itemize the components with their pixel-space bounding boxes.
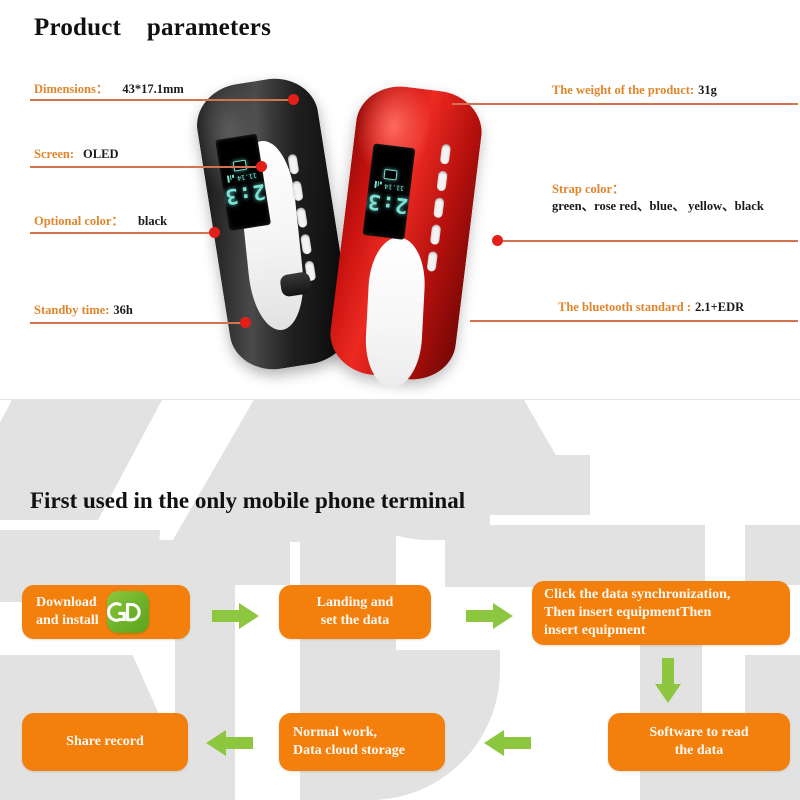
leader-dot-strap-color <box>492 235 503 246</box>
product-infographic-page: Product parameters 12:39 11.14 <box>0 0 800 800</box>
black-band-steps: 11.14 <box>237 171 257 180</box>
flow-step-download-and-install[interactable]: Download and install <box>22 585 190 639</box>
label-screen-key: Screen: <box>34 147 74 161</box>
label-dimensions-key: Dimensions： <box>34 82 108 96</box>
leader-line-dimensions <box>30 99 294 101</box>
label-dimensions-value: 43*17.1mm <box>122 82 183 96</box>
leader-line-weight <box>445 103 798 105</box>
leader-dot-dimensions <box>288 94 299 105</box>
label-optional-color-value: black <box>138 214 167 228</box>
product-parameters-section: Product parameters 12:39 11.14 <box>0 0 800 400</box>
flow-step-landing-and-set-the-data[interactable]: Landing and set the data <box>279 585 431 639</box>
red-band-steps: 11.14 <box>384 182 404 191</box>
label-weight: The weight of the product: 31g <box>552 81 717 99</box>
leader-line-screen <box>30 166 262 168</box>
flow-step-click-the-data-synchronization-label: Click the data synchronization, Then ins… <box>544 586 730 640</box>
label-standby-time: Standby time: 36h <box>34 301 133 319</box>
page-title: Product parameters <box>34 14 271 42</box>
signal-bars-icon <box>375 181 382 189</box>
leader-line-standby-time <box>30 322 246 324</box>
label-screen: Screen: OLED <box>34 145 118 163</box>
flow-section-title: First used in the only mobile phone term… <box>30 488 465 514</box>
flow-arrow-down-1 <box>655 658 681 704</box>
leader-dot-standby-time <box>240 317 251 328</box>
flow-arrow-right-2 <box>466 603 514 629</box>
leader-line-optional-color <box>30 232 215 234</box>
label-strap-color-value: green、rose red、blue、 yellow、black <box>552 198 788 215</box>
flow-step-software-to-read-the-data[interactable]: Software to read the data <box>608 713 790 771</box>
label-optional-color: Optional color： black <box>34 210 167 230</box>
flow-step-landing-and-set-the-data-label: Landing and set the data <box>317 594 394 630</box>
label-strap-color: Strap color： green、rose red、blue、 yellow… <box>552 181 788 215</box>
leader-dot-screen <box>256 161 267 172</box>
label-dimensions: Dimensions： 43*17.1mm <box>34 78 184 98</box>
leader-dot-weight <box>441 98 452 109</box>
flow-step-software-to-read-the-data-label: Software to read the data <box>649 724 748 760</box>
label-standby-time-value: 36h <box>113 303 132 317</box>
flow-step-normal-work-data-cloud-storage[interactable]: Normal work, Data cloud storage <box>279 713 445 771</box>
label-bluetooth-standard-value: 2.1+EDR <box>695 300 744 314</box>
flow-step-share-record[interactable]: Share record <box>22 713 188 771</box>
flow-step-normal-work-data-cloud-storage-label: Normal work, Data cloud storage <box>293 724 405 760</box>
label-bluetooth-standard: The bluetooth standard : 2.1+EDR <box>558 298 744 316</box>
flow-step-download-and-install-label: Download and install <box>36 594 99 630</box>
label-screen-value: OLED <box>83 147 118 161</box>
label-weight-value: 31g <box>698 83 717 97</box>
flow-step-click-the-data-synchronization[interactable]: Click the data synchronization, Then ins… <box>532 581 790 645</box>
leader-line-strap-color <box>496 240 798 242</box>
label-bluetooth-standard-key: The bluetooth standard : <box>558 300 691 314</box>
label-weight-key: The weight of the product: <box>552 83 694 97</box>
flow-arrow-right-1 <box>212 603 260 629</box>
leader-line-bluetooth-standard <box>470 320 798 322</box>
battery-icon <box>384 169 398 181</box>
label-strap-color-key: Strap color： <box>552 181 788 198</box>
product-photo: 12:39 11.14 <box>195 70 555 380</box>
flow-arrow-left-1 <box>483 730 531 756</box>
signal-bars-icon <box>227 175 235 183</box>
usage-flow-section: First used in the only mobile phone term… <box>0 400 800 800</box>
flow-step-share-record-label: Share record <box>66 733 144 751</box>
red-fitness-band: 12:39 11.14 <box>326 81 486 384</box>
label-optional-color-key: Optional color： <box>34 214 124 228</box>
flow-arrow-left-2 <box>205 730 253 756</box>
app-icon[interactable] <box>107 591 149 633</box>
leader-dot-optional-color <box>209 227 220 238</box>
label-standby-time-key: Standby time: <box>34 303 109 317</box>
